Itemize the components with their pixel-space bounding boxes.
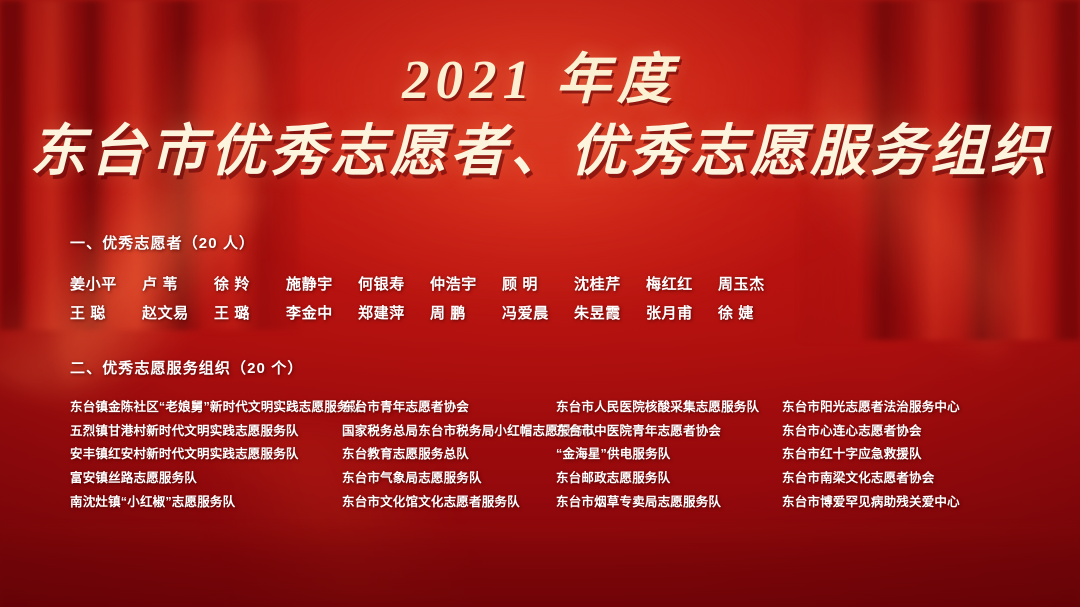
volunteer-name: 顾 明 [502,273,574,294]
organization-name: 东台市中医院青年志愿者协会 [556,424,782,440]
bottom-shade-decoration [0,524,1080,607]
volunteer-name: 何银寿 [358,273,430,294]
volunteer-name: 王 璐 [214,302,286,323]
organization-name: 东台市烟草专卖局志愿服务队 [556,495,782,511]
organization-name: 东台邮政志愿服务队 [556,471,782,487]
organization-name: 东台市博爱罕见病助残关爱中心 [782,495,1024,511]
organization-name: 富安镇丝路志愿服务队 [70,471,342,487]
organization-name: 东台市文化馆文化志愿者服务队 [342,495,556,511]
organization-name: 南沈灶镇“小红椒”志愿服务队 [70,495,342,511]
volunteer-name-row: 王 聪 赵文易 王 璐 李金中 郑建萍 周 鹏 冯爱晨 朱昱霞 张月甫 徐 婕 [70,302,1024,323]
page-title: 东台市优秀志愿者、优秀志愿服务组织 [0,123,1080,181]
volunteer-name-row: 姜小平 卢 苇 徐 羚 施静宇 何银寿 仲浩宇 顾 明 沈桂芹 梅红红 周玉杰 [70,273,1024,294]
organization-name: 东台市红十字应急救援队 [782,447,1024,463]
organization-name: 东台市阳光志愿者法治服务中心 [782,400,1024,416]
volunteer-name: 徐 羚 [214,273,286,294]
volunteer-name: 周 鹏 [430,302,502,323]
organization-name: 东台市青年志愿者协会 [342,400,556,416]
volunteer-name: 赵文易 [142,302,214,323]
organization-list: 东台镇金陈社区“老娘舅”新时代文明实践志愿服务队 东台市青年志愿者协会 东台市人… [70,400,1024,510]
volunteer-name-list: 姜小平 卢 苇 徐 羚 施静宇 何银寿 仲浩宇 顾 明 沈桂芹 梅红红 周玉杰 … [70,273,1024,323]
volunteer-name: 沈桂芹 [574,273,646,294]
organization-name: 东台教育志愿服务总队 [342,447,556,463]
volunteer-name: 徐 婕 [718,302,790,323]
content-area: 一、优秀志愿者（20 人） 姜小平 卢 苇 徐 羚 施静宇 何银寿 仲浩宇 顾 … [70,232,1024,510]
title-block: 2021 年度 东台市优秀志愿者、优秀志愿服务组织 [0,52,1080,181]
poster-canvas: 2021 年度 东台市优秀志愿者、优秀志愿服务组织 一、优秀志愿者（20 人） … [0,0,1080,607]
volunteer-name: 姜小平 [70,273,142,294]
section-heading-volunteers: 一、优秀志愿者（20 人） [70,232,1024,253]
volunteer-name: 仲浩宇 [430,273,502,294]
volunteer-name: 王 聪 [70,302,142,323]
organization-name: 东台市心连心志愿者协会 [782,424,1024,440]
organization-name: “金海星”供电服务队 [556,447,782,463]
volunteer-name: 张月甫 [646,302,718,323]
title-year: 2021 年度 [0,52,1080,107]
volunteer-name: 冯爱晨 [502,302,574,323]
volunteer-name: 梅红红 [646,273,718,294]
organization-name: 东台市人民医院核酸采集志愿服务队 [556,400,782,416]
organization-name: 东台镇金陈社区“老娘舅”新时代文明实践志愿服务队 [70,400,342,416]
section-heading-organizations: 二、优秀志愿服务组织（20 个） [70,357,1024,378]
volunteer-name: 朱昱霞 [574,302,646,323]
volunteer-name: 施静宇 [286,273,358,294]
organization-name: 安丰镇红安村新时代文明实践志愿服务队 [70,447,342,463]
volunteer-name: 李金中 [286,302,358,323]
volunteer-name: 卢 苇 [142,273,214,294]
organization-name: 五烈镇甘港村新时代文明实践志愿服务队 [70,424,342,440]
organization-name: 东台市气象局志愿服务队 [342,471,556,487]
volunteer-name: 郑建萍 [358,302,430,323]
organization-name: 国家税务总局东台市税务局小红帽志愿服务队 [342,424,556,440]
organization-name: 东台市南梁文化志愿者协会 [782,471,1024,487]
volunteer-name: 周玉杰 [718,273,790,294]
